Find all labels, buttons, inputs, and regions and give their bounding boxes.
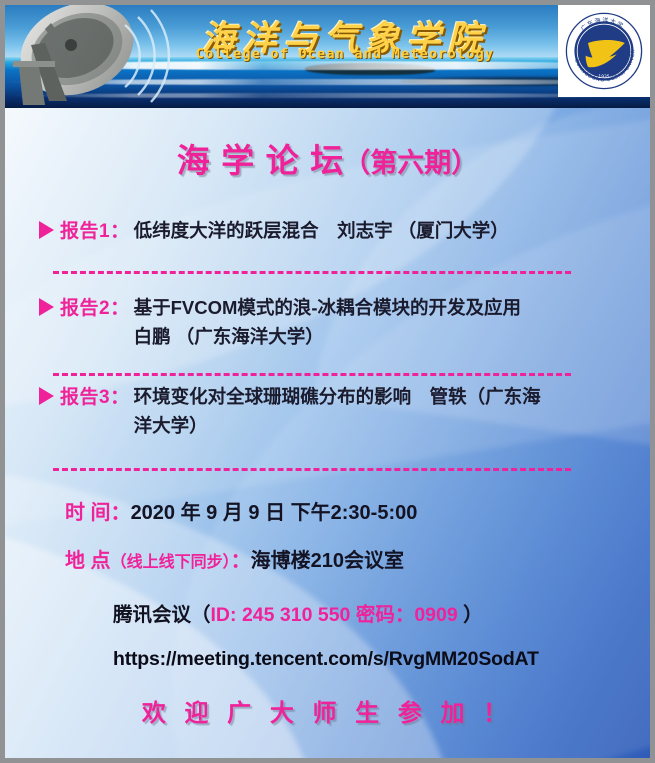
university-logo: 广东海洋大学 GUANGDONG OCEAN UNIVERSITY 1935	[558, 5, 650, 97]
triangle-right-icon	[39, 298, 54, 316]
meeting-url[interactable]: https://meeting.tencent.com/s/RvgMM20Sod…	[113, 648, 539, 671]
talk-text-1: 低纬度大洋的跃层混合 刘志宇 （厦门大学）	[134, 216, 629, 245]
talk-line-1: 环境变化对全球珊瑚礁分布的影响 管轶（广东海	[134, 382, 629, 411]
svg-text:1935: 1935	[598, 74, 609, 80]
welcome-message: 欢 迎 广 大 师 生 参 加 ！	[5, 693, 650, 728]
satellite-dish-icon	[5, 5, 180, 108]
page-title: 海 学 论 坛（第六期）	[5, 134, 650, 182]
talk-line-1: 基于FVCOM模式的浪-冰耦合模块的开发及应用	[134, 293, 629, 322]
talk-line-2: 洋大学）	[134, 411, 629, 440]
event-place-label-colon: ：	[231, 550, 251, 572]
poster-content: 海 学 论 坛（第六期） 报告1： 低纬度大洋的跃层混合 刘志宇 （厦门大学） …	[5, 108, 650, 758]
meeting-password-value: 0909	[414, 604, 457, 626]
talk-label-2: 报告2：	[60, 293, 130, 320]
talk-item-2: 报告2： 基于FVCOM模式的浪-冰耦合模块的开发及应用 白鹏 （广东海洋大学）	[39, 293, 629, 351]
talk-text-3: 环境变化对全球珊瑚礁分布的影响 管轶（广东海 洋大学）	[134, 382, 629, 440]
event-time: 时 间：2020 年 9 月 9 日 下午2:30-5:00	[65, 496, 417, 525]
event-place-label-note: （线上线下同步）	[111, 554, 231, 571]
meeting-id-label: ID:	[211, 604, 237, 626]
poster-root: 海洋与气象学院 College of Ocean and Meteorology…	[0, 0, 655, 763]
banner: 海洋与气象学院 College of Ocean and Meteorology…	[5, 5, 650, 108]
event-place-label: 地 点（线上线下同步）：	[65, 550, 251, 572]
meeting-id-value: 245 310 550	[242, 604, 350, 626]
separator-dashed-2	[53, 373, 571, 376]
meeting-password-label: 密码：	[356, 604, 415, 626]
event-time-value: 2020 年 9 月 9 日 下午2:30-5:00	[131, 502, 418, 524]
meeting-suffix: ）	[463, 604, 483, 626]
meeting-info: 腾讯会议（ID: 245 310 550 密码：0909 ）	[113, 598, 483, 627]
separator-dashed-3	[53, 468, 571, 471]
banner-title-en: College of Ocean and Meteorology	[155, 46, 535, 62]
talk-line-2: 白鹏 （广东海洋大学）	[134, 322, 629, 351]
triangle-right-icon	[39, 221, 54, 239]
talk-text-2: 基于FVCOM模式的浪-冰耦合模块的开发及应用 白鹏 （广东海洋大学）	[134, 293, 629, 351]
event-place-label-main: 地 点	[65, 550, 111, 572]
separator-dashed-1	[53, 271, 571, 274]
triangle-right-icon	[39, 387, 54, 405]
meeting-prefix: 腾讯会议（	[113, 604, 211, 626]
talk-item-3: 报告3： 环境变化对全球珊瑚礁分布的影响 管轶（广东海 洋大学）	[39, 382, 629, 440]
event-place-value: 海博楼210会议室	[251, 550, 404, 572]
event-time-label: 时 间：	[65, 502, 131, 524]
forum-title-main: 海 学 论 坛	[177, 141, 343, 180]
event-place: 地 点（线上线下同步）：海博楼210会议室	[65, 544, 404, 573]
forum-title-issue: （第六期）	[343, 148, 478, 179]
talk-item-1: 报告1： 低纬度大洋的跃层混合 刘志宇 （厦门大学）	[39, 216, 629, 245]
talk-label-3: 报告3：	[60, 382, 130, 409]
talk-label-1: 报告1：	[60, 216, 130, 243]
talk-line-1: 低纬度大洋的跃层混合 刘志宇 （厦门大学）	[134, 220, 509, 241]
